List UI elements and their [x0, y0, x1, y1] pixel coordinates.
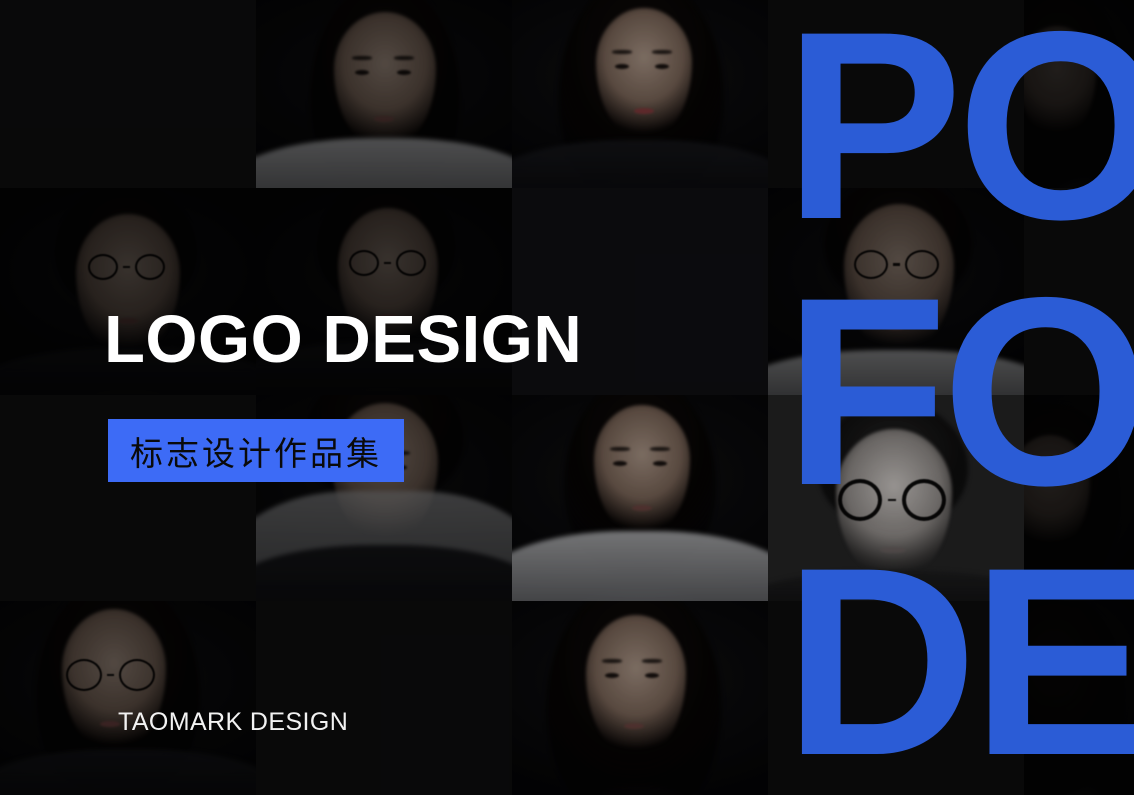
grid-cell-r3c4 [768, 395, 1024, 601]
grid-cell-r4c3 [512, 601, 768, 795]
photo-grid [0, 0, 1134, 795]
grid-cell-r4c2 [256, 601, 512, 795]
portrait-photo [768, 395, 1024, 601]
grid-cell-r3c3 [512, 395, 768, 601]
poster-canvas: PO FO DE LOGO DESIGN 标志设计作品集 TAOMARK DES… [0, 0, 1134, 795]
round-glasses-icon [66, 659, 155, 691]
grid-cell-r4c4 [768, 601, 1024, 795]
portrait-photo [0, 601, 256, 795]
portrait-photo [512, 601, 768, 795]
grid-cell-r2c5 [1024, 188, 1134, 395]
grid-cell-r1c5 [1024, 0, 1134, 188]
grid-cell-r1c2 [256, 0, 512, 188]
page-title: LOGO DESIGN [104, 306, 582, 373]
portrait-photo [768, 188, 1024, 395]
brand-name: TAOMARK DESIGN [118, 708, 348, 737]
grid-cell-r2c4 [768, 188, 1024, 395]
grid-cell-r3c5 [1024, 395, 1134, 601]
subtitle-badge: 标志设计作品集 [108, 419, 404, 482]
portrait-photo [256, 0, 512, 188]
grid-cell-r4c5 [1024, 601, 1134, 795]
grid-cell-r1c3 [512, 0, 768, 188]
grid-cell-r1c4 [768, 0, 1024, 188]
portrait-photo [512, 0, 768, 188]
round-glasses-icon [838, 479, 946, 521]
portrait-photo [1024, 0, 1134, 188]
portrait-photo [1024, 395, 1134, 601]
portrait-photo [512, 395, 768, 601]
grid-cell-r4c1 [0, 601, 256, 795]
portrait-photo [1024, 601, 1134, 795]
grid-cell-r1c1 [0, 0, 256, 188]
